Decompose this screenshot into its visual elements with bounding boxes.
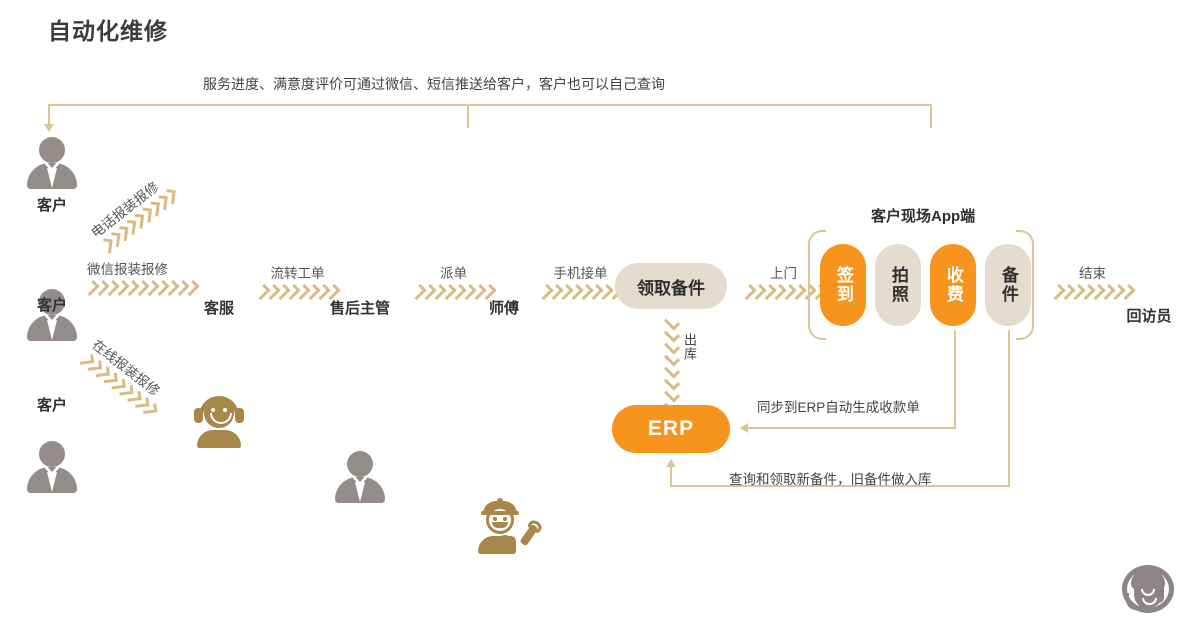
outbound-label: 出库 xyxy=(683,333,696,361)
page-title: 自动化维修 xyxy=(48,12,168,46)
diagram-canvas: 自动化维修 服务进度、满意度评价可通过微信、短信推送给客户，客户也可以自己查询 … xyxy=(0,0,1198,514)
customer-1-icon xyxy=(26,137,78,189)
person-head xyxy=(347,451,373,477)
customer-2-arrow xyxy=(87,281,196,295)
customer-3-channel-group: 在线报装报修 xyxy=(79,334,171,417)
headset-ear-right xyxy=(235,408,244,423)
arrow-group-to-technician: 派单 xyxy=(414,262,493,299)
erp-node[interactable]: ERP xyxy=(612,405,730,453)
parts-pickup-node[interactable]: 领取备件 xyxy=(615,263,727,309)
agent-shoulders xyxy=(197,430,241,448)
customer-3-label: 客户 xyxy=(26,394,78,415)
top-feedback-note: 服务进度、满意度评价可通过微信、短信推送给客户，客户也可以自己查询 xyxy=(203,74,665,94)
sync-line-horizontal xyxy=(748,427,956,429)
arrow-group-to-mobile: 手机接单 xyxy=(541,262,620,299)
worker-eye-left xyxy=(493,517,497,521)
role-label-technician: 师傅 xyxy=(472,297,536,318)
arrow-group-to-followup: 结束 xyxy=(1053,262,1132,299)
arrow-label-to-followup: 结束 xyxy=(1053,262,1132,282)
feedback-line-mid-stub xyxy=(467,104,469,128)
technician-icon xyxy=(476,498,532,554)
followup-operator-icon xyxy=(1120,565,1176,617)
agent-eye-left xyxy=(211,408,215,412)
app-step-photo[interactable]: 拍照 xyxy=(875,244,921,326)
feedback-line-horizontal xyxy=(48,104,932,106)
feedback-arrow-down xyxy=(44,124,54,132)
arrow-chevrons-to-followup xyxy=(1053,285,1132,299)
wrench-icon xyxy=(519,524,538,547)
person-head xyxy=(39,441,65,467)
parts-note-label: 查询和领取新备件，旧备件做入库 xyxy=(729,468,932,488)
sync-note-label: 同步到ERP自动生成收款单 xyxy=(757,396,920,416)
parts-line-vertical-right xyxy=(1008,330,1010,486)
app-group-title: 客户现场App端 xyxy=(871,205,975,226)
app-step-checkin[interactable]: 签到 xyxy=(820,244,866,326)
feedback-line-left-drop xyxy=(48,104,50,126)
parts-line-vertical-left xyxy=(670,466,672,486)
agent-eye-right xyxy=(223,408,227,412)
arrow-label-to-technician: 派单 xyxy=(414,262,493,282)
worker-eye-right xyxy=(503,517,507,521)
operator-mic-tip xyxy=(1139,603,1146,610)
outbound-arrow-chevrons xyxy=(665,318,679,411)
customer-2-channel-label: 微信报装报修 xyxy=(87,258,196,278)
arrow-group-to-manager: 流转工单 xyxy=(258,262,337,299)
customer-3-icon xyxy=(26,441,78,493)
role-label-manager: 售后主管 xyxy=(318,297,402,318)
sync-line-vertical xyxy=(954,330,956,428)
arrow-label-to-mobile: 手机接单 xyxy=(541,262,620,282)
app-step-charge[interactable]: 收费 xyxy=(930,244,976,326)
app-step-parts[interactable]: 备件 xyxy=(985,244,1031,326)
customer-1-label: 客户 xyxy=(26,194,78,215)
customer-2-channel-group: 微信报装报修 xyxy=(87,258,196,295)
customer-service-icon xyxy=(193,396,245,448)
customer-2-label: 客户 xyxy=(26,294,78,315)
headset-ear-left xyxy=(194,408,203,423)
arrow-label-to-manager: 流转工单 xyxy=(258,262,337,282)
role-label-followup: 回访员 xyxy=(1114,305,1184,326)
arrow-chevrons-to-mobile xyxy=(541,285,620,299)
feedback-line-right-drop xyxy=(930,104,932,128)
parts-arrow-up xyxy=(666,459,676,467)
sync-arrow-left xyxy=(740,423,748,433)
cap-brim xyxy=(481,511,519,515)
person-head xyxy=(39,137,65,163)
customer-1-channel-group: 电话报装报修 xyxy=(86,171,178,254)
after-sales-manager-icon xyxy=(334,451,386,503)
role-label-customer-service: 客服 xyxy=(190,297,248,318)
